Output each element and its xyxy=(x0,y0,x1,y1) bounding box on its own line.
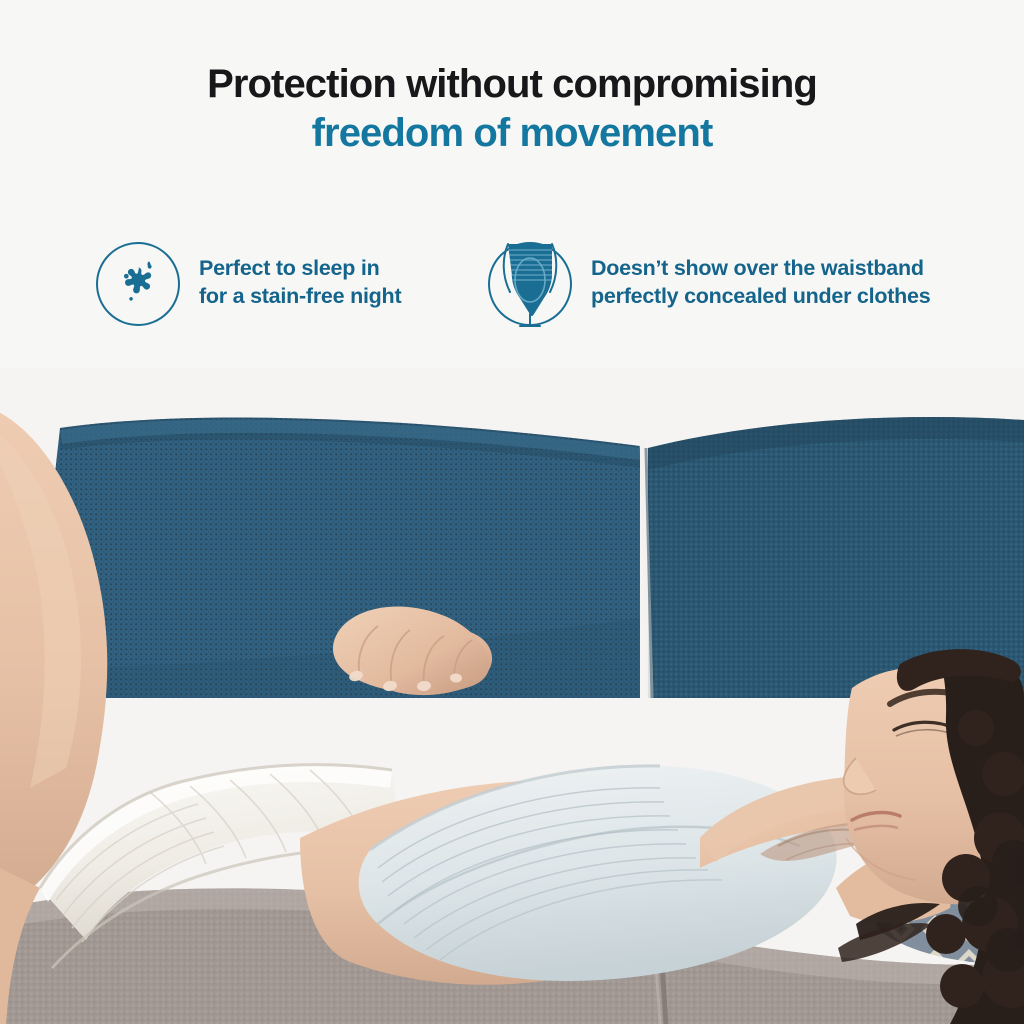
headline-line-1: Protection without compromising xyxy=(0,62,1024,107)
page-title: Protection without compromising freedom … xyxy=(0,62,1024,156)
feature-line-1: Doesn’t show over the waistband xyxy=(591,254,930,282)
liquid-splash-icon xyxy=(96,242,180,326)
feature-list: Perfect to sleep in for a stain-free nig… xyxy=(0,238,1024,348)
feature-line-1: Perfect to sleep in xyxy=(199,254,401,282)
feature-text-concealed: Doesn’t show over the waistband perfectl… xyxy=(591,242,930,311)
underwear-brief-icon xyxy=(488,242,572,326)
feature-item-concealed: Doesn’t show over the waistband perfectl… xyxy=(488,242,930,326)
feature-item-stain-free: Perfect to sleep in for a stain-free nig… xyxy=(96,242,401,326)
feature-text-stain-free: Perfect to sleep in for a stain-free nig… xyxy=(199,242,401,311)
feature-line-2: for a stain-free night xyxy=(199,282,401,310)
promo-banner: Protection without compromising freedom … xyxy=(0,0,1024,1024)
feature-line-2: perfectly concealed under clothes xyxy=(591,282,930,310)
headline-line-2: freedom of movement xyxy=(0,111,1024,156)
lifestyle-photo xyxy=(0,368,1024,1024)
